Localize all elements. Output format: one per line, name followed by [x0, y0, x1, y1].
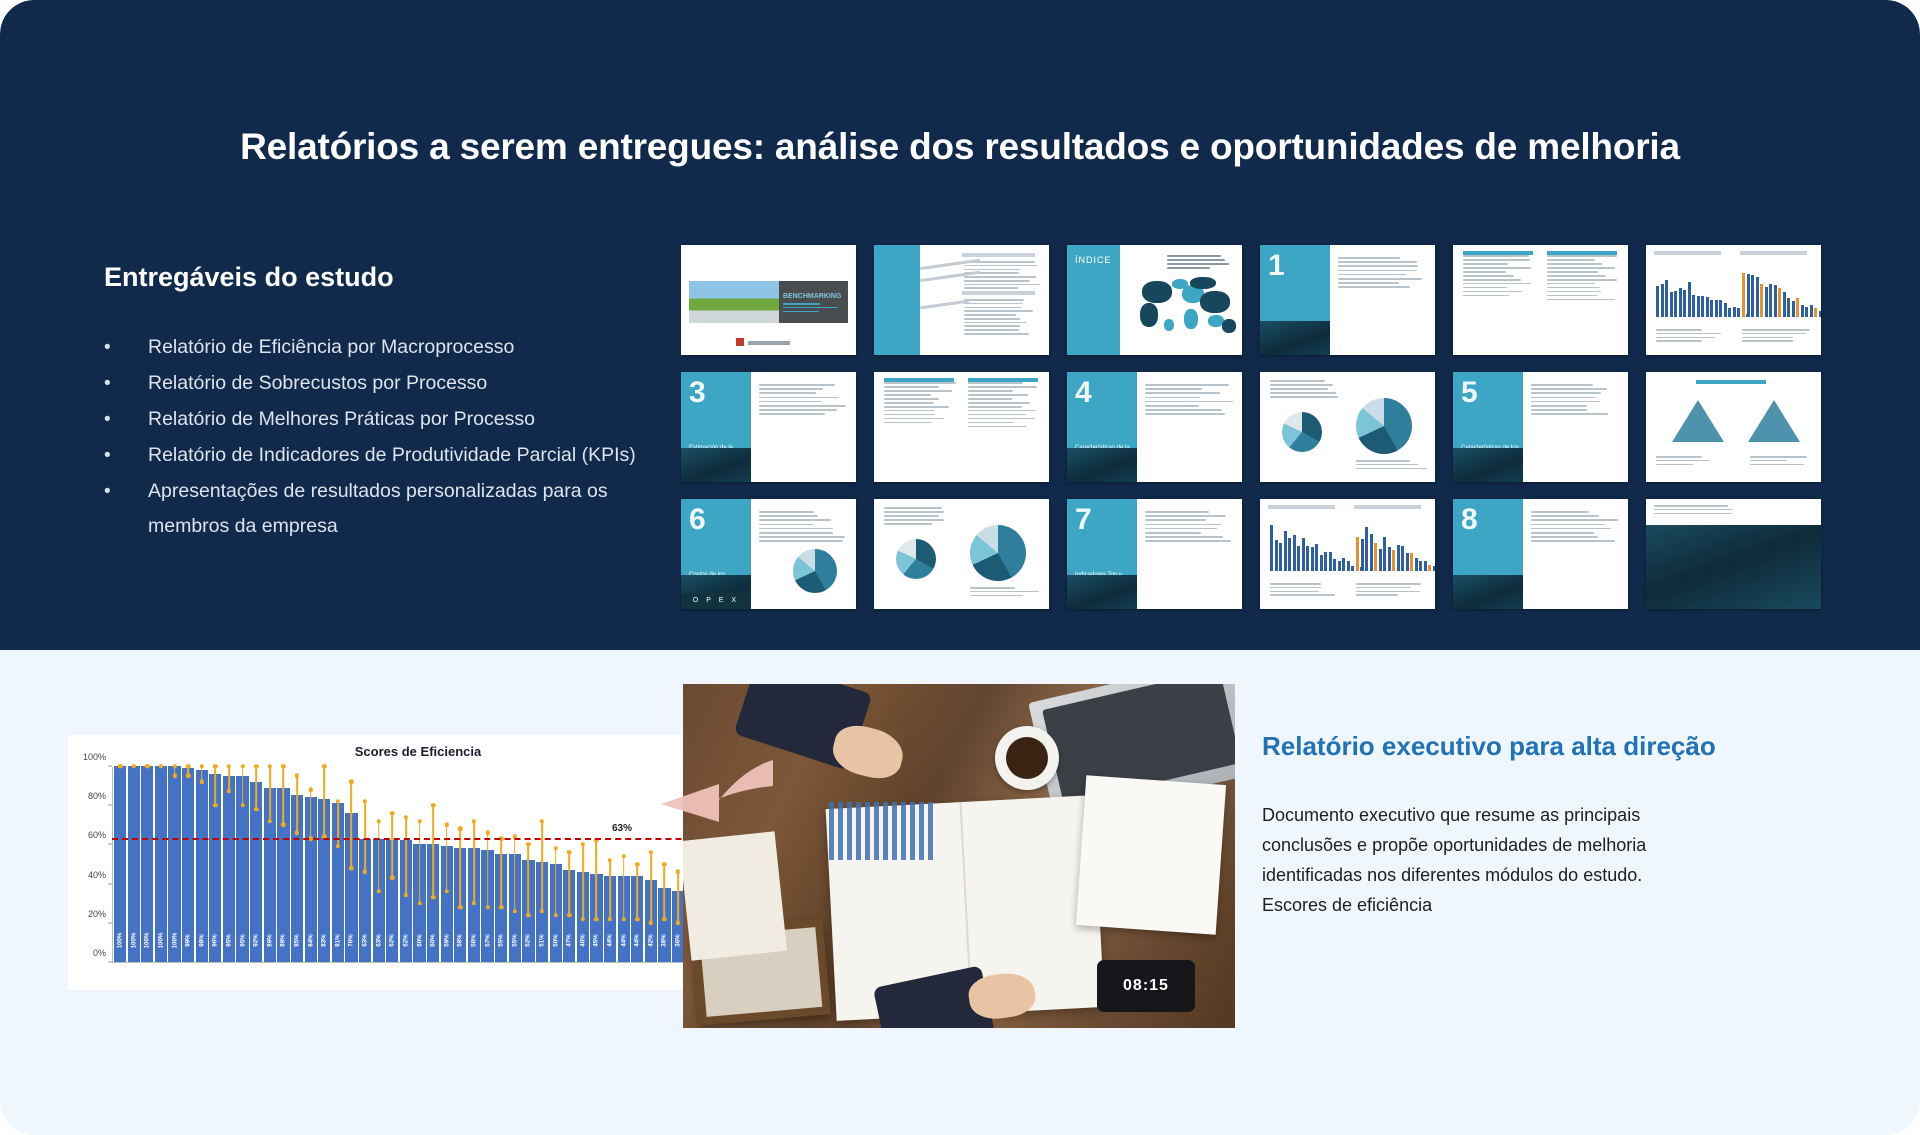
thumbnail-toc[interactable] [874, 245, 1049, 355]
bar-column: 84% [305, 767, 317, 962]
thumbnail-section-7[interactable]: 7Indicadores Top y Down [1067, 499, 1242, 609]
list-item: • Relatório de Eficiência por Macroproce… [104, 330, 644, 365]
error-bar-cap-high [621, 854, 625, 858]
thumbnail-section-8[interactable]: 8Conclusiones [1453, 499, 1628, 609]
bar-column: 50% [550, 767, 562, 962]
x-axis [112, 962, 752, 963]
bar: 100% [128, 766, 140, 962]
error-bar [296, 776, 298, 833]
error-bar-cap-high [281, 764, 285, 768]
bar-value-label: 44% [634, 934, 641, 946]
bar-value-label: 51% [539, 934, 546, 946]
error-bar-cap-high [268, 764, 272, 768]
thumbnail-triangle-a[interactable] [1646, 372, 1821, 482]
error-bar-cap-high [308, 787, 312, 791]
error-bar-cap-high [349, 779, 353, 783]
bar-value-label: 46% [579, 934, 586, 946]
list-item-label: Relatório de Sobrecustos por Processo [148, 366, 644, 401]
error-bar-cap-high [376, 819, 380, 823]
bar: 100% [155, 766, 167, 962]
bar-column: 57% [481, 767, 493, 962]
error-bar [664, 864, 666, 919]
y-axis-tick-label: 0% [93, 948, 112, 958]
error-bar-cap-high [485, 830, 489, 834]
bar-value-label: 89% [280, 934, 287, 946]
thumbnail-section-3[interactable]: 3Estimación de la Frontera Estocástica [681, 372, 856, 482]
error-bar [636, 864, 638, 919]
bar-column: 46% [577, 767, 589, 962]
hand-shape [828, 720, 908, 784]
bar-value-label: 92% [253, 934, 260, 946]
executive-report-title: Relatório executivo para alta direção [1262, 731, 1862, 762]
bar-value-label: 36% [675, 934, 682, 946]
error-bar [446, 825, 448, 892]
bar-value-label: 95% [239, 934, 246, 946]
y-axis-tick-label: 60% [88, 830, 112, 840]
error-bar-cap-high [472, 819, 476, 823]
bar-column: 100% [141, 767, 153, 962]
bar-column: 85% [291, 767, 303, 962]
bar-value-label: 44% [620, 934, 627, 946]
error-bar-cap-high [322, 764, 326, 768]
error-bar-cap-high [676, 870, 680, 874]
bar-value-label: 100% [144, 933, 151, 949]
bar-column: 98% [196, 767, 208, 962]
y-axis-tick-mark [108, 962, 112, 963]
error-bar-cap-high [540, 819, 544, 823]
list-item-label: Relatório de Indicadores de Produtividad… [148, 438, 644, 473]
y-axis [112, 767, 113, 963]
bar-column: 38% [658, 767, 670, 962]
bar-value-label: 98% [198, 934, 205, 946]
bar-value-label: 84% [307, 934, 314, 946]
error-bar-cap-high [458, 827, 462, 831]
error-bar-cap-high [567, 850, 571, 854]
bar: 95% [223, 776, 235, 962]
bar-value-label: 55% [511, 934, 518, 946]
error-bar [650, 852, 652, 923]
error-bar [500, 839, 502, 908]
bar-value-label: 57% [484, 934, 491, 946]
thumbnail-pie-a[interactable] [1260, 372, 1435, 482]
bar-value-label: 100% [117, 933, 124, 949]
bar-value-label: 89% [266, 934, 273, 946]
error-bar [460, 829, 462, 907]
error-bar-cap-high [445, 823, 449, 827]
error-bar [323, 766, 325, 837]
chart-title: Scores de Eficiencia [68, 744, 768, 759]
bar-column: 81% [332, 767, 344, 962]
error-bar-cap-high [227, 764, 231, 768]
bar-value-label: 76% [348, 934, 355, 946]
error-bar [528, 844, 530, 915]
sticky-notes-shape [683, 831, 787, 960]
bar-column: 96% [209, 767, 221, 962]
bar: 98% [196, 770, 208, 962]
error-bar-cap-high [240, 764, 244, 768]
bar-value-label: 81% [334, 934, 341, 946]
error-bar [283, 766, 285, 825]
bar-column: 58% [454, 767, 466, 962]
bar: 100% [141, 766, 153, 962]
meeting-photo: 08:15 [683, 684, 1235, 1028]
error-bar [215, 766, 217, 805]
bar-column: 63% [373, 767, 385, 962]
bar-value-label: 45% [593, 934, 600, 946]
error-bar-cap-high [608, 858, 612, 862]
list-item-label: Relatório de Eficiência por Macroprocess… [148, 330, 644, 365]
bar-value-label: 63% [362, 934, 369, 946]
y-axis-tick-label: 100% [83, 752, 112, 762]
thumbnail-chart-b[interactable] [1260, 499, 1435, 609]
bar: 99% [182, 768, 194, 962]
y-axis-tick-mark [108, 766, 112, 767]
bar-column: 47% [563, 767, 575, 962]
bar-column: 83% [318, 767, 330, 962]
y-axis-tick-label: 80% [88, 791, 112, 801]
error-bar [568, 852, 570, 915]
bar-column: 100% [128, 767, 140, 962]
bar-column: 60% [413, 767, 425, 962]
smartphone-shape: 08:15 [1097, 960, 1195, 1012]
bar-value-label: 63% [375, 934, 382, 946]
error-bar [582, 844, 584, 918]
error-bar [487, 833, 489, 907]
thumbnail-section-4[interactable]: 4Características de la empresa [1067, 372, 1242, 482]
error-bar-cap-high [363, 799, 367, 803]
bar-column: 55% [495, 767, 507, 962]
bar-value-label: 42% [647, 934, 654, 946]
bar-column: 99% [182, 767, 194, 962]
error-bar-cap-high [662, 862, 666, 866]
list-item: • Relatório de Melhores Práticas por Pro… [104, 402, 644, 437]
error-bar-cap-high [526, 842, 530, 846]
bar-column: 52% [522, 767, 534, 962]
bar-value-label: 59% [443, 934, 450, 946]
bar-column: 44% [604, 767, 616, 962]
bar-value-label: 100% [171, 933, 178, 949]
bullet-icon: • [104, 474, 148, 509]
error-bar [351, 782, 353, 868]
bar-column: 42% [645, 767, 657, 962]
bar-value-label: 96% [212, 934, 219, 946]
bar-column: 51% [536, 767, 548, 962]
deliverables-heading: Entregáveis do estudo [104, 262, 394, 293]
bar-column: 45% [590, 767, 602, 962]
y-axis-tick-mark [108, 883, 112, 884]
y-axis-tick-label: 40% [88, 870, 112, 880]
error-bar [473, 821, 475, 903]
bar-value-label: 62% [402, 934, 409, 946]
error-bar [378, 821, 380, 892]
error-bar-cap-high [431, 803, 435, 807]
error-bar [432, 805, 434, 897]
list-item-label: Apresentações de resultados personalizad… [148, 474, 644, 544]
bar-value-label: 83% [321, 934, 328, 946]
bar-column: 89% [277, 767, 289, 962]
document-thumbnail-grid: BENCHMARKINGÍNDICE1Introducción3Estimaci… [681, 245, 1819, 609]
bar-column: 59% [441, 767, 453, 962]
error-bar-cap-high [553, 846, 557, 850]
error-bar [541, 821, 543, 911]
thumbnail-pie-b[interactable] [874, 499, 1049, 609]
calendar-shape [1076, 775, 1226, 934]
bar-value-label: 50% [552, 934, 559, 946]
bar-column: 44% [618, 767, 630, 962]
bullet-icon: • [104, 330, 148, 365]
coffee-cup-shape [995, 726, 1059, 790]
thumbnail-text-a[interactable] [1453, 245, 1628, 355]
bar-column: 62% [400, 767, 412, 962]
phone-clock-label: 08:15 [1097, 960, 1195, 1012]
list-item-label: Relatório de Melhores Práticas por Proce… [148, 402, 644, 437]
deliverables-list: • Relatório de Eficiência por Macroproce… [104, 330, 644, 545]
bar-column: 95% [236, 767, 248, 962]
error-bar [596, 841, 598, 919]
bar-value-label: 58% [457, 934, 464, 946]
thumbnail-index-map[interactable]: ÍNDICE [1067, 245, 1242, 355]
bar-series: 100%100%100%100%100%99%98%96%95%95%92%89… [114, 767, 752, 962]
error-bar-cap-high [200, 764, 204, 768]
bar-column: 100% [114, 767, 126, 962]
bar: 100% [114, 766, 126, 962]
body-line: Documento executivo que resume as princi… [1262, 800, 1817, 830]
error-bar [242, 766, 244, 805]
thumbnail-section-5[interactable]: 5Características de los costos ajustados [1453, 372, 1628, 482]
bar-value-label: 38% [661, 934, 668, 946]
document-chart-shape [829, 802, 935, 860]
error-bar [391, 813, 393, 878]
body-line: Escores de eficiência [1262, 890, 1817, 920]
bar-value-label: 60% [430, 934, 437, 946]
bullet-icon: • [104, 438, 148, 473]
bar-value-label: 60% [416, 934, 423, 946]
list-item: • Apresentações de resultados personaliz… [104, 474, 644, 544]
error-bar-cap-high [390, 811, 394, 815]
error-bar [419, 821, 421, 903]
error-bar [228, 766, 230, 791]
executive-report-body: Documento executivo que resume as princi… [1262, 800, 1817, 920]
thumbnail-photo-page[interactable] [1646, 499, 1821, 609]
bar-value-label: 44% [607, 934, 614, 946]
bar-column: 100% [155, 767, 167, 962]
bar-value-label: 52% [525, 934, 532, 946]
list-item: • Relatório de Sobrecustos por Processo [104, 366, 644, 401]
bar-column: 76% [345, 767, 357, 962]
thumbnail-text-b[interactable] [874, 372, 1049, 482]
error-bar [514, 837, 516, 911]
bar-value-label: 47% [566, 934, 573, 946]
bar-column: 55% [509, 767, 521, 962]
bar-column: 89% [264, 767, 276, 962]
reference-line-label: 63% [612, 823, 632, 834]
error-bar-cap-high [581, 842, 585, 846]
bar-column: 58% [468, 767, 480, 962]
reference-line [112, 838, 752, 840]
body-line: identificadas nos diferentes módulos do … [1262, 860, 1817, 890]
chart-plot-area: 100%100%100%100%100%99%98%96%95%95%92%89… [112, 767, 752, 963]
y-axis-tick-label: 20% [88, 909, 112, 919]
bar-value-label: 100% [157, 933, 164, 949]
presentation-slide: Relatórios a serem entregues: análise do… [0, 0, 1920, 1135]
bar-value-label: 100% [130, 933, 137, 949]
error-bar [609, 860, 611, 919]
bullet-icon: • [104, 402, 148, 437]
y-axis-tick-mark [108, 922, 112, 923]
error-bar [405, 817, 407, 895]
error-bar-cap-high [295, 774, 299, 778]
bar-value-label: 55% [498, 934, 505, 946]
error-bar [555, 848, 557, 915]
bar-value-label: 85% [294, 934, 301, 946]
thumbnail-section-6[interactable]: 6Costos de los procesos de OPEXO P E X [681, 499, 856, 609]
error-bar-cap-high [635, 862, 639, 866]
bar-column: 62% [386, 767, 398, 962]
bullet-icon: • [104, 366, 148, 401]
page-title: Relatórios a serem entregues: análise do… [0, 126, 1920, 168]
error-bar [337, 801, 339, 846]
bar-value-label: 99% [185, 934, 192, 946]
error-bar-cap-high [254, 764, 258, 768]
thumbnail-section-1[interactable]: 1Introducción [1260, 245, 1435, 355]
thumbnail-cover[interactable]: BENCHMARKING [681, 245, 856, 355]
error-bar [623, 856, 625, 919]
error-bar-cap-high [417, 819, 421, 823]
error-bar-cap-high [404, 815, 408, 819]
bar-value-label: 58% [470, 934, 477, 946]
y-axis-tick-mark [108, 844, 112, 845]
error-bar-cap-high [213, 764, 217, 768]
error-bar [310, 790, 312, 839]
bar-value-label: 62% [389, 934, 396, 946]
bar: 100% [168, 766, 180, 962]
y-axis-tick-mark [108, 805, 112, 806]
body-line: conclusões e propõe oportunidades de mel… [1262, 830, 1817, 860]
efficiency-scores-chart: Scores de Eficiencia 100%100%100%100%100… [68, 735, 768, 990]
error-bar-cap-high [649, 850, 653, 854]
error-bar [677, 872, 679, 923]
bar-column: 63% [359, 767, 371, 962]
bar-column: 60% [427, 767, 439, 962]
error-bar [255, 766, 257, 809]
error-bar [269, 766, 271, 821]
list-item: • Relatório de Indicadores de Produtivid… [104, 438, 644, 473]
bar-column: 95% [223, 767, 235, 962]
bar-column: 92% [250, 767, 262, 962]
bar-column: 100% [168, 767, 180, 962]
bar-column: 44% [631, 767, 643, 962]
bar-value-label: 95% [225, 934, 232, 946]
thumbnail-chart-a[interactable] [1646, 245, 1821, 355]
